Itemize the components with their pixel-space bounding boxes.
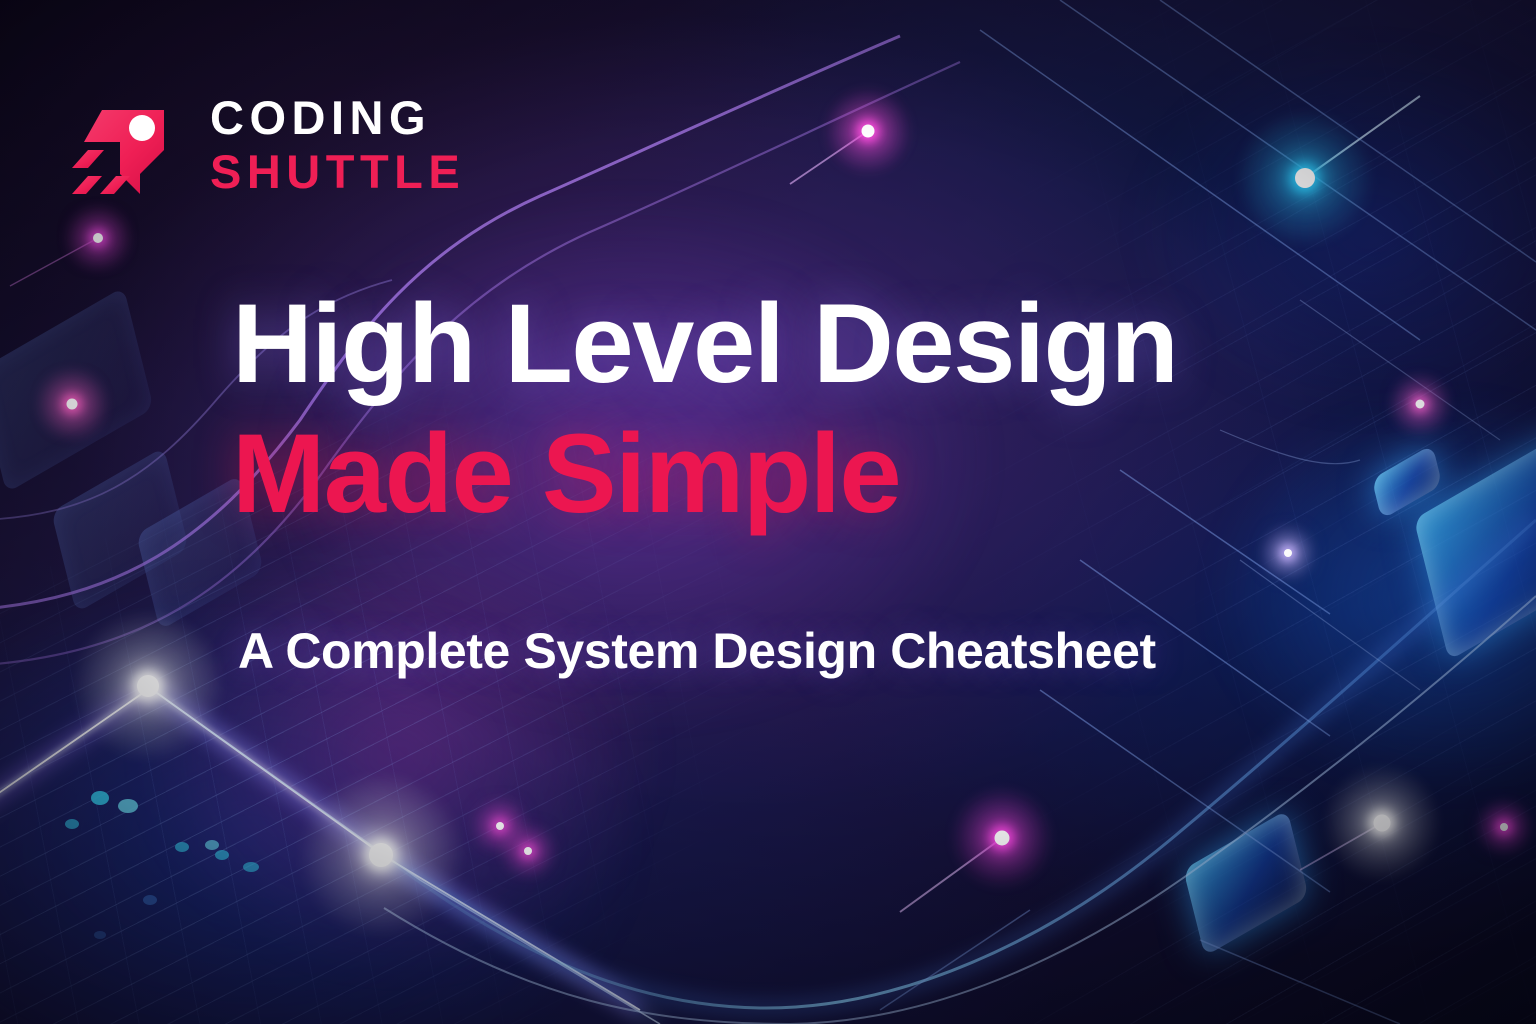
brand-name-line1: CODING: [210, 95, 465, 141]
headline: High Level Design Made Simple: [232, 286, 1177, 533]
brand-wordmark: CODING SHUTTLE: [210, 95, 465, 194]
content-layer: CODING SHUTTLE High Level Design Made Si…: [0, 0, 1536, 1024]
shuttle-rocket-icon: [66, 86, 184, 204]
brand-logo[interactable]: CODING SHUTTLE: [66, 86, 465, 204]
subtitle: A Complete System Design Cheatsheet: [238, 622, 1156, 680]
headline-line-2: Made Simple: [232, 416, 1177, 532]
headline-line-1: High Level Design: [232, 286, 1177, 402]
promo-banner: CODING SHUTTLE High Level Design Made Si…: [0, 0, 1536, 1024]
brand-name-line2: SHUTTLE: [210, 149, 465, 195]
